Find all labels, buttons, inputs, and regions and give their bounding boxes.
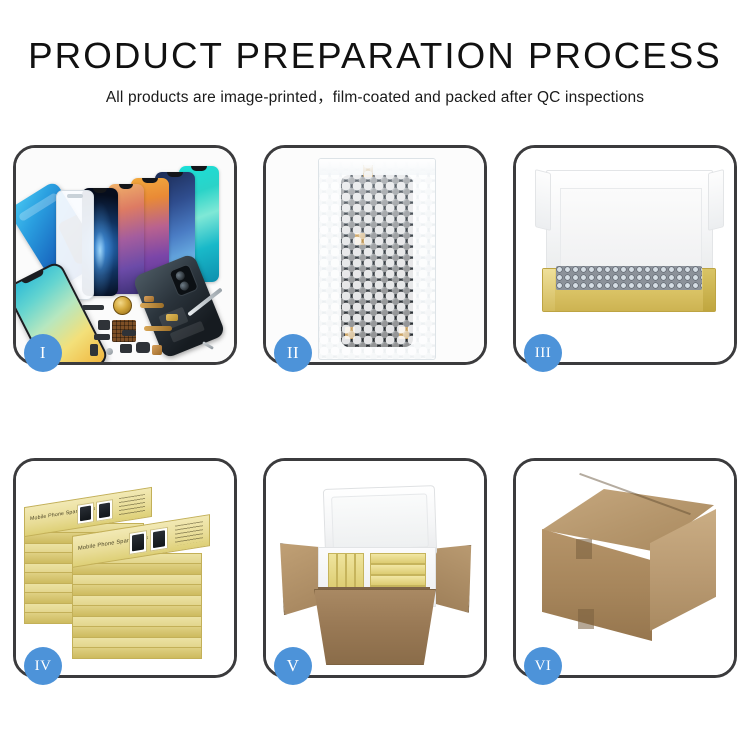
step-badge-3: III (524, 334, 562, 372)
step-3-image (516, 148, 734, 362)
box-thumbnail-2-rear (96, 499, 113, 522)
process-step-grid: I II (13, 145, 737, 678)
box-spec-lines-front (175, 521, 203, 545)
shield-plate-icon (152, 345, 162, 355)
step-5-image (266, 461, 484, 675)
process-step-1: I (13, 145, 237, 365)
step-badge-2: II (274, 334, 312, 372)
vibration-motor-icon (113, 296, 132, 315)
step-badge-4: IV (24, 647, 62, 685)
carton-tape-patch-bottom-icon (578, 609, 594, 629)
step-6-image (516, 461, 734, 675)
connector-1-icon (144, 296, 154, 302)
step-1-image (16, 148, 234, 362)
step-4-image: Mobile Phone Spare Parts Mobile Phone Sp… (16, 461, 234, 675)
box-thumbnail-1-rear (77, 502, 94, 525)
process-step-5: V (263, 458, 487, 678)
step-badge-1: I (24, 334, 62, 372)
sim-tray-icon (90, 344, 98, 356)
earpiece-mesh-icon (136, 342, 150, 353)
bag-seal-icon (319, 159, 435, 175)
page-title: PRODUCT PREPARATION PROCESS (0, 36, 750, 76)
step-badge-6: VI (524, 647, 562, 685)
bubble-wrap-bag-icon (318, 158, 436, 360)
box-spec-lines-rear (119, 494, 145, 516)
button-flex-icon (120, 344, 132, 353)
process-step-6: VI (513, 458, 737, 678)
carton-body-icon (314, 589, 436, 665)
battery-connector-icon (166, 314, 178, 321)
flex-cable-1-icon (140, 303, 164, 308)
speaker-part-icon (82, 305, 104, 310)
box-thumbnail-2-front (150, 527, 168, 552)
bubble-wrapped-contents-icon (556, 266, 702, 290)
flex-cable-2-icon (144, 326, 172, 331)
bubble-texture-overlay-icon (319, 159, 435, 359)
camera-module-icon (98, 320, 110, 330)
header: PRODUCT PREPARATION PROCESS All products… (0, 0, 750, 107)
process-step-4: Mobile Phone Spare Parts Mobile Phone Sp… (13, 458, 237, 678)
charging-port-icon (122, 330, 136, 336)
foam-inner-panel-icon (560, 188, 702, 270)
page-subtitle: All products are image-printed，film-coat… (0, 85, 750, 107)
step-2-image (266, 148, 484, 362)
step-badge-5: V (274, 647, 312, 685)
box-thumbnail-1-front (129, 530, 147, 555)
product-preparation-infographic: PRODUCT PREPARATION PROCESS All products… (0, 0, 750, 750)
screw-set-icon (106, 348, 113, 355)
carton-tape-patch-top-icon (576, 539, 592, 559)
antenna-clip-icon (94, 334, 110, 340)
process-step-2: II (263, 145, 487, 365)
process-step-3: III (513, 145, 737, 365)
